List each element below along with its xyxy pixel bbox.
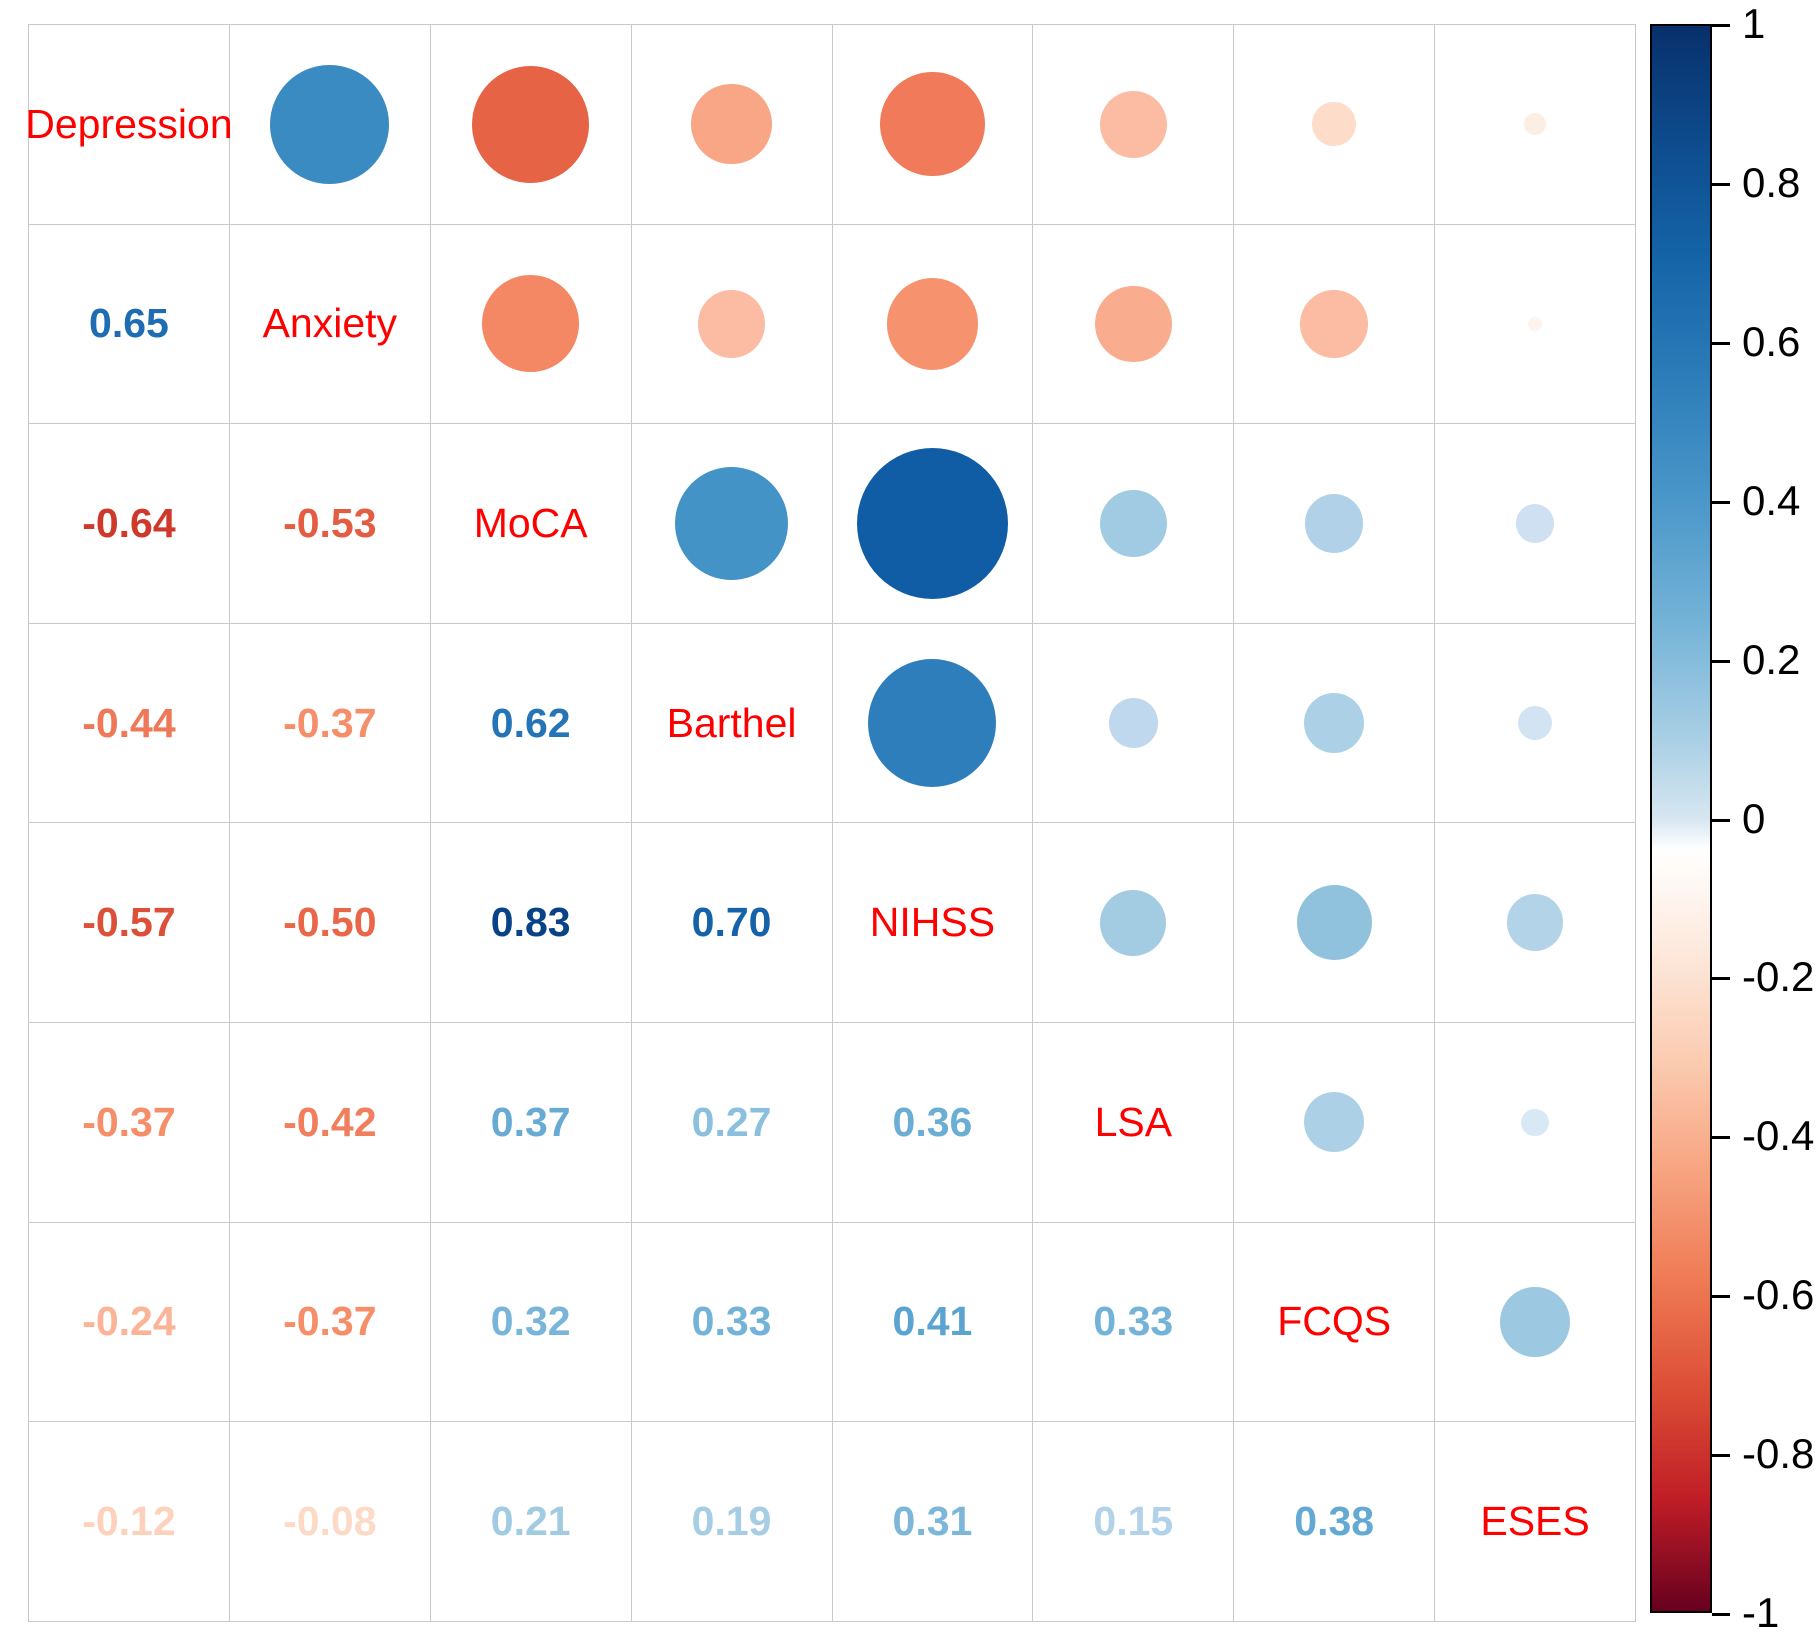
correlation-value: -0.37 bbox=[283, 703, 376, 744]
matrix-value-cell: 0.32 bbox=[430, 1222, 631, 1422]
correlation-circle bbox=[1304, 1092, 1364, 1152]
matrix-diagonal-label-anxiety: Anxiety bbox=[229, 224, 430, 424]
correlation-circle bbox=[482, 275, 579, 372]
matrix-row: -0.44-0.370.62Barthel bbox=[29, 623, 1636, 823]
matrix-row: -0.37-0.420.370.270.36LSA bbox=[29, 1022, 1636, 1222]
matrix-value-cell: 0.62 bbox=[430, 623, 631, 823]
matrix-circle-cell bbox=[1435, 25, 1636, 225]
variable-label: Depression bbox=[25, 104, 232, 145]
correlation-circle bbox=[1100, 490, 1168, 558]
matrix-circle-cell bbox=[1033, 623, 1234, 823]
correlation-value: 0.27 bbox=[692, 1102, 772, 1143]
correlation-value: -0.53 bbox=[283, 503, 376, 544]
correlation-circle bbox=[1095, 286, 1172, 363]
correlation-value: -0.37 bbox=[82, 1102, 175, 1143]
correlation-value: 0.41 bbox=[893, 1301, 973, 1342]
matrix-circle-cell bbox=[1234, 25, 1435, 225]
matrix-value-cell: 0.27 bbox=[631, 1022, 832, 1222]
correlation-circle bbox=[857, 448, 1009, 600]
correlation-value: 0.70 bbox=[692, 902, 772, 943]
matrix-circle-cell bbox=[1435, 823, 1636, 1023]
matrix-value-cell: -0.53 bbox=[229, 424, 430, 624]
correlation-value: 0.62 bbox=[491, 703, 571, 744]
colorbar-tick-label: 0.2 bbox=[1742, 639, 1800, 681]
matrix-circle-cell bbox=[832, 623, 1033, 823]
correlation-value: -0.12 bbox=[82, 1501, 175, 1542]
correlation-value: -0.37 bbox=[283, 1301, 376, 1342]
matrix-diagonal-label-depression: Depression bbox=[29, 25, 230, 225]
correlation-circle bbox=[1305, 494, 1363, 552]
variable-label: Barthel bbox=[667, 703, 797, 744]
matrix-value-cell: 0.37 bbox=[430, 1022, 631, 1222]
colorbar-gradient bbox=[1650, 24, 1712, 1613]
matrix-row: -0.57-0.500.830.70NIHSS bbox=[29, 823, 1636, 1023]
matrix-circle-cell bbox=[430, 224, 631, 424]
matrix-row: -0.64-0.53MoCA bbox=[29, 424, 1636, 624]
correlation-circle bbox=[1516, 504, 1554, 542]
matrix-circle-cell bbox=[1033, 224, 1234, 424]
correlation-circle bbox=[270, 65, 389, 184]
matrix-row: Depression bbox=[29, 25, 1636, 225]
matrix-value-cell: -0.64 bbox=[29, 424, 230, 624]
matrix-value-cell: 0.15 bbox=[1033, 1422, 1234, 1622]
correlation-table: Depression0.65Anxiety-0.64-0.53MoCA-0.44… bbox=[28, 24, 1636, 1622]
matrix-circle-cell bbox=[1435, 424, 1636, 624]
correlation-value: 0.15 bbox=[1093, 1501, 1173, 1542]
correlation-value: -0.24 bbox=[82, 1301, 175, 1342]
matrix-circle-cell bbox=[1435, 224, 1636, 424]
colorbar-tick-label: -0.8 bbox=[1742, 1433, 1814, 1475]
matrix-circle-cell bbox=[832, 224, 1033, 424]
matrix-value-cell: -0.37 bbox=[29, 1022, 230, 1222]
matrix-value-cell: 0.31 bbox=[832, 1422, 1033, 1622]
correlation-value: 0.36 bbox=[893, 1102, 973, 1143]
correlation-circle bbox=[1297, 885, 1372, 960]
correlation-circle bbox=[880, 72, 984, 176]
matrix-circle-cell bbox=[430, 25, 631, 225]
correlation-value: -0.64 bbox=[82, 503, 175, 544]
correlation-circle bbox=[675, 467, 788, 580]
matrix-circle-cell bbox=[1033, 424, 1234, 624]
matrix-diagonal-label-fcqs: FCQS bbox=[1234, 1222, 1435, 1422]
colorbar-tick-mark bbox=[1712, 660, 1730, 663]
colorbar-tick-label: 0.6 bbox=[1742, 321, 1800, 363]
colorbar-tick-mark bbox=[1712, 342, 1730, 345]
matrix-diagonal-label-moca: MoCA bbox=[430, 424, 631, 624]
correlation-circle bbox=[1507, 894, 1564, 951]
correlation-circle bbox=[1300, 290, 1368, 358]
matrix-value-cell: -0.37 bbox=[229, 1222, 430, 1422]
colorbar-legend: 10.80.60.40.20-0.2-0.4-0.6-0.8-1 bbox=[1650, 24, 1817, 1616]
matrix-circle-cell bbox=[631, 25, 832, 225]
matrix-circle-cell bbox=[1435, 1022, 1636, 1222]
correlation-value: 0.65 bbox=[89, 303, 169, 344]
correlation-value: 0.83 bbox=[491, 902, 571, 943]
colorbar-tick-label: 1 bbox=[1742, 3, 1765, 45]
matrix-diagonal-label-eses: ESES bbox=[1435, 1422, 1636, 1622]
colorbar-tick-mark bbox=[1712, 1136, 1730, 1139]
correlation-circle bbox=[1109, 698, 1158, 747]
variable-label: Anxiety bbox=[263, 303, 397, 344]
correlation-value: -0.50 bbox=[283, 902, 376, 943]
variable-label: ESES bbox=[1480, 1501, 1589, 1542]
matrix-diagonal-label-nihss: NIHSS bbox=[832, 823, 1033, 1023]
matrix-value-cell: 0.33 bbox=[1033, 1222, 1234, 1422]
matrix-value-cell: 0.70 bbox=[631, 823, 832, 1023]
matrix-circle-cell bbox=[1033, 823, 1234, 1023]
correlation-circle bbox=[1528, 317, 1543, 332]
colorbar-tick-mark bbox=[1712, 1613, 1730, 1616]
correlation-value: 0.31 bbox=[893, 1501, 973, 1542]
colorbar-tick-label: 0 bbox=[1742, 798, 1765, 840]
matrix-value-cell: -0.57 bbox=[29, 823, 230, 1023]
correlation-value: 0.19 bbox=[692, 1501, 772, 1542]
matrix-value-cell: 0.19 bbox=[631, 1422, 832, 1622]
colorbar-tick-mark bbox=[1712, 183, 1730, 186]
matrix-circle-cell bbox=[1234, 623, 1435, 823]
colorbar-tick-label: 0.4 bbox=[1742, 480, 1800, 522]
matrix-value-cell: -0.44 bbox=[29, 623, 230, 823]
matrix-row: 0.65Anxiety bbox=[29, 224, 1636, 424]
colorbar-tick-label: -0.6 bbox=[1742, 1274, 1814, 1316]
correlation-value: -0.57 bbox=[82, 902, 175, 943]
matrix-circle-cell bbox=[631, 224, 832, 424]
colorbar-tick-mark bbox=[1712, 1454, 1730, 1457]
correlation-circle bbox=[1312, 102, 1356, 146]
matrix-circle-cell bbox=[1234, 1022, 1435, 1222]
correlation-circle bbox=[1304, 693, 1364, 753]
matrix-value-cell: 0.38 bbox=[1234, 1422, 1435, 1622]
correlation-circle bbox=[1100, 91, 1168, 159]
correlation-circle bbox=[698, 290, 766, 358]
matrix-value-cell: -0.42 bbox=[229, 1022, 430, 1222]
correlation-value: 0.38 bbox=[1294, 1501, 1374, 1542]
matrix-circle-cell bbox=[1234, 424, 1435, 624]
matrix-value-cell: -0.37 bbox=[229, 623, 430, 823]
colorbar-tick-label: 0.8 bbox=[1742, 162, 1800, 204]
correlation-value: -0.42 bbox=[283, 1102, 376, 1143]
correlation-circle bbox=[1518, 706, 1553, 741]
correlation-circle bbox=[1524, 113, 1546, 135]
matrix-circle-cell bbox=[1234, 823, 1435, 1023]
correlation-circle bbox=[887, 278, 978, 369]
correlation-circle bbox=[1500, 1287, 1569, 1356]
correlation-circle bbox=[472, 66, 589, 183]
colorbar-tick-label: -0.2 bbox=[1742, 956, 1814, 998]
matrix-circle-cell bbox=[832, 25, 1033, 225]
matrix-value-cell: -0.50 bbox=[229, 823, 430, 1023]
colorbar-tick-mark bbox=[1712, 819, 1730, 822]
correlation-circle bbox=[1521, 1109, 1548, 1136]
correlation-circle bbox=[691, 84, 771, 164]
variable-label: NIHSS bbox=[870, 902, 995, 943]
correlation-value: -0.08 bbox=[283, 1501, 376, 1542]
correlation-value: 0.33 bbox=[692, 1301, 772, 1342]
matrix-circle-cell bbox=[631, 424, 832, 624]
matrix-value-cell: 0.21 bbox=[430, 1422, 631, 1622]
colorbar-tick-mark bbox=[1712, 501, 1730, 504]
colorbar-tick-label: -0.4 bbox=[1742, 1115, 1814, 1157]
correlation-value: 0.21 bbox=[491, 1501, 571, 1542]
correlation-value: 0.32 bbox=[491, 1301, 571, 1342]
matrix-row: -0.12-0.080.210.190.310.150.38ESES bbox=[29, 1422, 1636, 1622]
correlation-value: 0.33 bbox=[1093, 1301, 1173, 1342]
matrix-value-cell: -0.12 bbox=[29, 1422, 230, 1622]
matrix-value-cell: 0.65 bbox=[29, 224, 230, 424]
colorbar-tick-label: -1 bbox=[1742, 1592, 1779, 1634]
colorbar-tick-mark bbox=[1712, 977, 1730, 980]
variable-label: FCQS bbox=[1277, 1301, 1391, 1342]
colorbar-tick-mark bbox=[1712, 24, 1730, 27]
matrix-circle-cell bbox=[1435, 1222, 1636, 1422]
correlation-circle bbox=[1100, 890, 1166, 956]
correlation-value: 0.37 bbox=[491, 1102, 571, 1143]
variable-label: MoCA bbox=[474, 503, 588, 544]
variable-label: LSA bbox=[1095, 1102, 1173, 1143]
colorbar-tick-mark bbox=[1712, 1295, 1730, 1298]
matrix-circle-cell bbox=[229, 25, 430, 225]
matrix-value-cell: 0.33 bbox=[631, 1222, 832, 1422]
matrix-value-cell: 0.41 bbox=[832, 1222, 1033, 1422]
matrix-value-cell: -0.24 bbox=[29, 1222, 230, 1422]
matrix-value-cell: -0.08 bbox=[229, 1422, 430, 1622]
matrix-value-cell: 0.36 bbox=[832, 1022, 1033, 1222]
matrix-circle-cell bbox=[1435, 623, 1636, 823]
matrix-value-cell: 0.83 bbox=[430, 823, 631, 1023]
matrix-circle-cell bbox=[832, 424, 1033, 624]
correlation-circle bbox=[868, 659, 996, 787]
correlation-matrix: Depression0.65Anxiety-0.64-0.53MoCA-0.44… bbox=[28, 24, 1627, 1613]
correlation-value: -0.44 bbox=[82, 703, 175, 744]
matrix-diagonal-label-barthel: Barthel bbox=[631, 623, 832, 823]
matrix-circle-cell bbox=[1234, 224, 1435, 424]
matrix-circle-cell bbox=[1033, 25, 1234, 225]
matrix-row: -0.24-0.370.320.330.410.33FCQS bbox=[29, 1222, 1636, 1422]
matrix-diagonal-label-lsa: LSA bbox=[1033, 1022, 1234, 1222]
